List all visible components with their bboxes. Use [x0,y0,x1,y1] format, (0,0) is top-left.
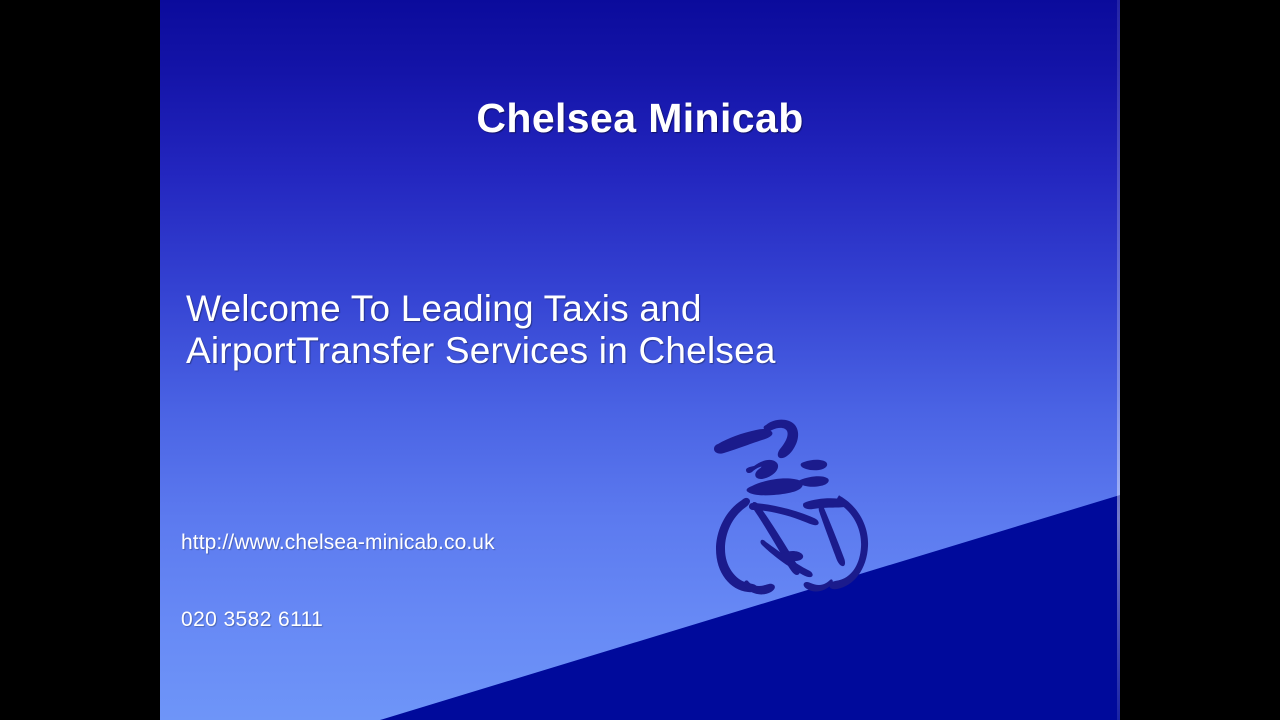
headline-text: Welcome To Leading Taxis and AirportTran… [186,288,1086,372]
slide-content: Chelsea Minicab Welcome To Leading Taxis… [160,0,1120,720]
phone-number-text: 020 3582 6111 [181,608,323,632]
letterbox-right-bar [1120,0,1280,720]
headline-line-2: AirportTransfer Services in Chelsea [186,330,1086,372]
website-url-text: http://www.chelsea-minicab.co.uk [181,531,495,555]
headline-line-1: Welcome To Leading Taxis and [186,288,1086,330]
presentation-slide: Chelsea Minicab Welcome To Leading Taxis… [160,0,1120,720]
page-title: Chelsea Minicab [160,96,1120,141]
video-frame: Chelsea Minicab Welcome To Leading Taxis… [0,0,1280,720]
letterbox-left-bar [0,0,160,720]
